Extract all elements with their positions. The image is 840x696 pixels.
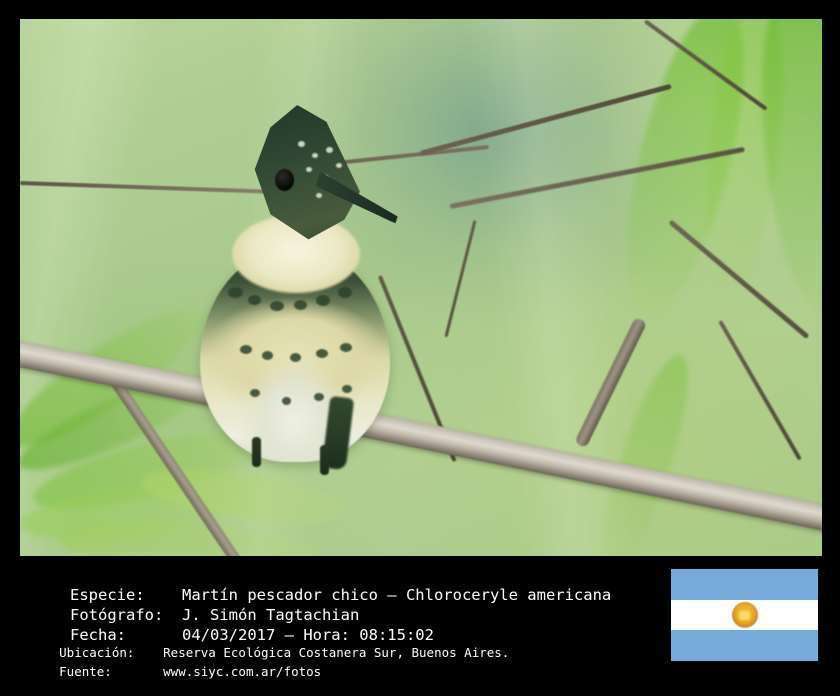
head-speckle — [298, 141, 305, 147]
bird-foot-left — [252, 437, 261, 467]
breast-spot — [270, 301, 284, 311]
photo-caption-page: Especie:Martín pescador chico – Chloroce… — [0, 0, 840, 669]
bird-eye — [275, 169, 294, 191]
head-speckle — [336, 163, 342, 168]
photograph — [20, 19, 822, 556]
argentina-flag-icon — [671, 569, 818, 661]
flag-stripe-top — [671, 569, 818, 600]
caption-value-fuente: www.siyc.com.ar/fotos — [163, 664, 321, 679]
breast-spot — [294, 300, 307, 310]
breast-spot — [282, 397, 291, 405]
head-speckle — [312, 153, 318, 158]
green-kingfisher-bird — [190, 97, 410, 467]
caption-label-fuente: Fuente: — [59, 664, 163, 680]
bird-foot-right — [320, 445, 329, 475]
head-speckle — [316, 193, 322, 198]
breast-spot — [316, 349, 328, 358]
sun-face — [739, 611, 750, 620]
head-speckle — [306, 167, 312, 172]
caption-row-fuente: Fuente:www.siyc.com.ar/fotos — [14, 648, 321, 696]
flag-stripe-bottom — [671, 630, 818, 661]
breast-spot — [340, 343, 352, 352]
breast-spot — [262, 351, 273, 360]
breast-spot — [248, 295, 261, 305]
head-speckle — [326, 147, 333, 153]
breast-spot — [250, 389, 260, 397]
breast-spot — [228, 287, 243, 298]
breast-spot — [342, 385, 352, 393]
breast-spot — [240, 345, 252, 354]
breast-spot — [314, 393, 324, 401]
breast-spot — [290, 353, 301, 362]
sun-of-may-icon — [732, 602, 758, 628]
breast-spot — [316, 295, 330, 306]
breast-spot — [338, 287, 352, 298]
